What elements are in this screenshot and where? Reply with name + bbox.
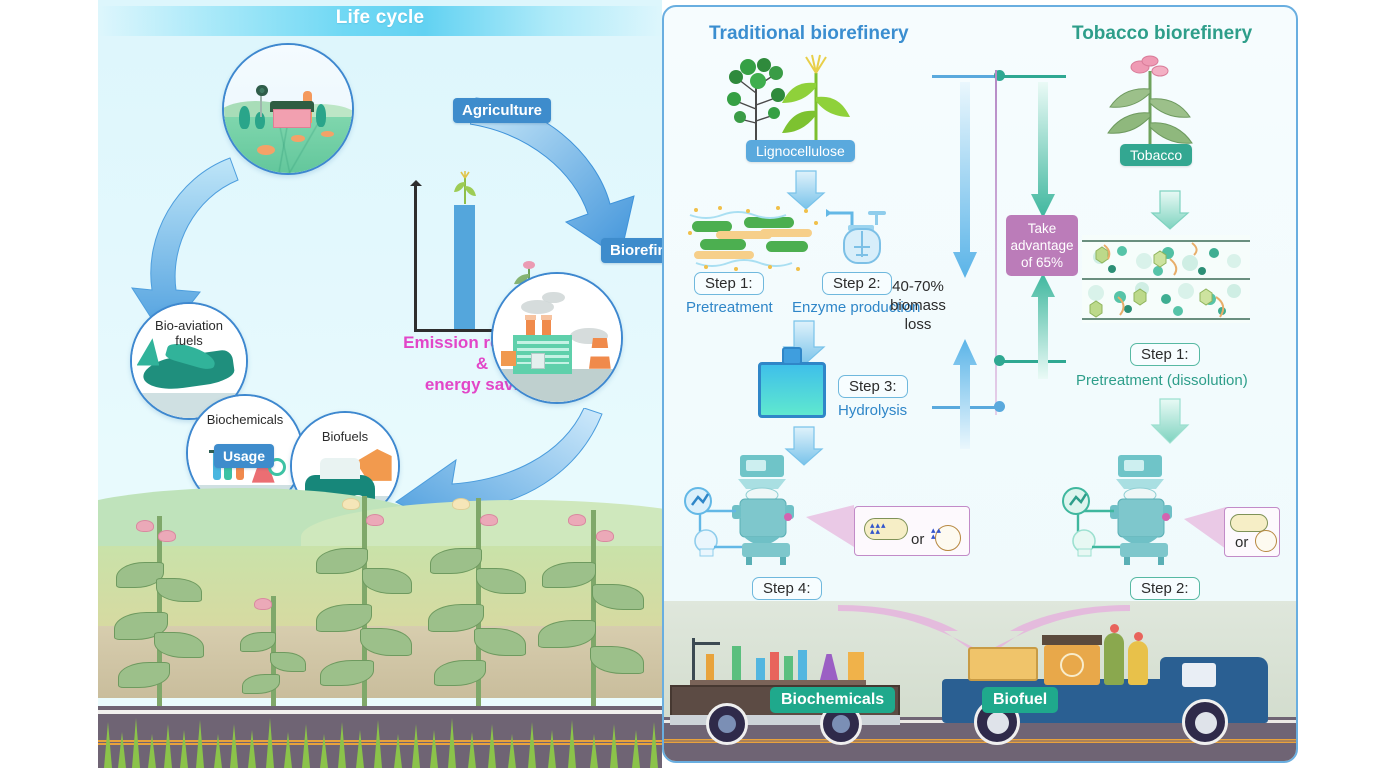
tree-icon (316, 104, 326, 127)
graphical-abstract: Life cycle (0, 0, 1388, 768)
label-line-2: fuels (175, 333, 202, 348)
or-separator-tobacco: or (1235, 534, 1248, 551)
advantage-line-1: Take (1028, 221, 1057, 236)
test-tube (784, 656, 793, 680)
step-2-tobacco-badge: Step 2: (1130, 577, 1200, 600)
biomass-loss-annotation: 40-70% biomass loss (872, 277, 964, 334)
tobacco-flower (568, 514, 586, 526)
right-comparison-panel: Traditional biorefinery Tobacco biorefin… (662, 5, 1298, 763)
tobacco-leaf (156, 578, 202, 602)
lab-clamp (694, 642, 720, 645)
tobacco-flower (342, 498, 360, 510)
column-title-traditional: Traditional biorefinery (709, 23, 909, 45)
yeast-cell-icon (1255, 530, 1277, 552)
test-tube (706, 654, 714, 680)
biorefinery-scene-circle (491, 272, 623, 404)
fuel-crate (968, 647, 1038, 681)
tobacco-leaf (592, 584, 644, 610)
biochemicals-label: Biochemicals (188, 412, 302, 427)
gas-cylinder (1128, 641, 1148, 685)
comparison-top-rule-blue (932, 75, 1000, 78)
tobacco-flower (596, 530, 614, 542)
pink-pointer-triangle (806, 505, 856, 549)
car-windshield (320, 458, 360, 479)
emission-line-2: & (476, 354, 488, 373)
test-tube (770, 652, 779, 680)
tobacco-flower (136, 520, 154, 532)
crate-lid (1042, 635, 1102, 645)
barn-icon (273, 109, 311, 128)
tobacco-leaf (542, 562, 596, 588)
wheel-hub (1195, 712, 1217, 734)
tobacco-leaf (362, 568, 412, 594)
biomass-loss-line-2: biomass (890, 297, 946, 314)
label-line-1: Bio-aviation (155, 318, 223, 333)
tobacco-plant (114, 516, 204, 706)
test-tube (732, 646, 741, 680)
plant-stem (591, 510, 596, 706)
step-1-traditional-name: Pretreatment (686, 299, 773, 316)
label-biorefinery: Biorefinery (601, 238, 662, 263)
test-tube (756, 658, 765, 680)
corn-plant-icon (452, 170, 478, 204)
lab-table (690, 680, 866, 685)
advantage-arrow-down (1030, 82, 1056, 222)
chart-y-axis (414, 182, 417, 332)
cab-window (1182, 663, 1216, 687)
tobacco-leaf (430, 548, 482, 574)
left-lifecycle-panel: Life cycle (98, 0, 662, 768)
factory-door (531, 353, 545, 368)
tobacco-flower (366, 514, 384, 526)
biomass-loss-arrow-up (952, 337, 978, 449)
tobacco-plant (238, 596, 308, 706)
test-tube (798, 650, 807, 680)
gas-cylinder (1104, 633, 1124, 685)
additional-n-sources-box: ▴▴▴▴▴ or ▴▴▴ (854, 506, 970, 556)
label-biochemicals: Biochemicals (770, 687, 895, 713)
step-1-tobacco-badge: Step 1: (1130, 343, 1200, 366)
comparison-node-bottom (994, 401, 1005, 412)
label-biofuel: Biofuel (982, 687, 1058, 713)
or-separator-traditional: or (911, 531, 924, 548)
step-3-traditional-badge: Step 3: (838, 375, 908, 398)
step-3-traditional-name: Hydrolysis (838, 402, 907, 419)
take-advantage-badge: Take advantage of 65% (1006, 215, 1078, 276)
tag-tobacco: Tobacco (1120, 144, 1192, 166)
tobacco-flower (452, 498, 470, 510)
step-1-traditional-badge: Step 1: (694, 272, 764, 295)
arrow-down-to-fermentation-tobacco (1150, 397, 1190, 445)
label-line-1: Biofuels (322, 429, 368, 444)
products-transport-scene: Biochemicals Bi (664, 601, 1298, 761)
advantage-line-2: advantage (1010, 238, 1073, 253)
step-1-tobacco-name: Pretreatment (dissolution) (1076, 372, 1248, 389)
tobacco-field-scene (98, 486, 662, 768)
tobacco-leaf (474, 628, 526, 656)
biofuels-label: Biofuels (292, 429, 398, 444)
pressure-gauge (1110, 624, 1119, 633)
step-4-traditional-badge: Step 4: (752, 577, 822, 600)
agriculture-scene-circle (222, 43, 354, 175)
wheel-hub (718, 715, 736, 733)
tobacco-flower (254, 598, 272, 610)
biomass-loss-line-3: loss (905, 316, 932, 333)
lignocellulose-plants-icon (724, 53, 854, 153)
storage-tank (501, 351, 516, 366)
tobacco-leaf (118, 662, 170, 688)
no-additional-n-box: or (1224, 507, 1280, 557)
dissolution-cellwall-icon (1082, 235, 1250, 323)
nitrogen-dots-icon: ▴▴▴ (931, 527, 942, 539)
trailer-wheel (706, 703, 748, 745)
label-usage: Usage (214, 444, 274, 468)
column-title-tobacco: Tobacco biorefinery (1072, 23, 1252, 45)
advantage-line-3: of 65% (1021, 255, 1063, 270)
cellwall-pretreatment-icon (686, 205, 826, 275)
tobacco-leaf (360, 628, 412, 656)
tobacco-leaf (316, 548, 368, 574)
tobacco-leaf (538, 620, 596, 648)
tobacco-leaf (590, 646, 644, 674)
tree-icon (239, 106, 249, 129)
trailer-chassis (670, 715, 900, 725)
nitrogen-dots-icon: ▴▴▴▴▴ (870, 522, 887, 534)
enzyme-bioreactor-icon (822, 203, 902, 271)
tobacco-leaf (476, 568, 526, 594)
beaker-icon (848, 652, 864, 680)
label-agriculture: Agriculture (453, 98, 551, 123)
tobacco-plant (316, 496, 412, 706)
bio-aviation-fuels-label: Bio-aviation fuels (132, 318, 246, 348)
tag-lignocellulose: Lignocellulose (746, 140, 855, 162)
bacteria-cell-icon (1230, 514, 1268, 532)
hay-bale (291, 135, 305, 143)
windmill-icon (256, 85, 268, 97)
pressure-gauge (1134, 632, 1143, 641)
tobacco-plant (538, 510, 648, 706)
hydrolysis-tank-lid (782, 347, 802, 365)
pink-pointer-triangle (1184, 507, 1228, 551)
biomass-loss-line-1: 40-70% (892, 278, 944, 295)
tobacco-flower (480, 514, 498, 526)
biomass-loss-arrow-down (952, 82, 978, 282)
lifecycle-title: Life cycle (98, 7, 662, 29)
wheel-hub (832, 715, 850, 733)
chart-bar-lignocellulose (454, 205, 475, 329)
label-line-1: Biochemicals (207, 412, 284, 427)
wheel-hub (987, 712, 1009, 734)
fuel-symbol (1060, 653, 1084, 677)
arrow-down-to-dissolution (1150, 189, 1190, 231)
comparison-node-mid (994, 355, 1005, 366)
tobacco-plant (428, 498, 528, 706)
hydrolysis-tank-icon (758, 362, 826, 418)
tobacco-flower (158, 530, 176, 542)
comparison-top-rule-green (1000, 75, 1066, 78)
tobacco-plant-icon (1096, 55, 1202, 155)
truck-wheel (1182, 699, 1228, 745)
advantage-arrow-up (1030, 271, 1056, 379)
